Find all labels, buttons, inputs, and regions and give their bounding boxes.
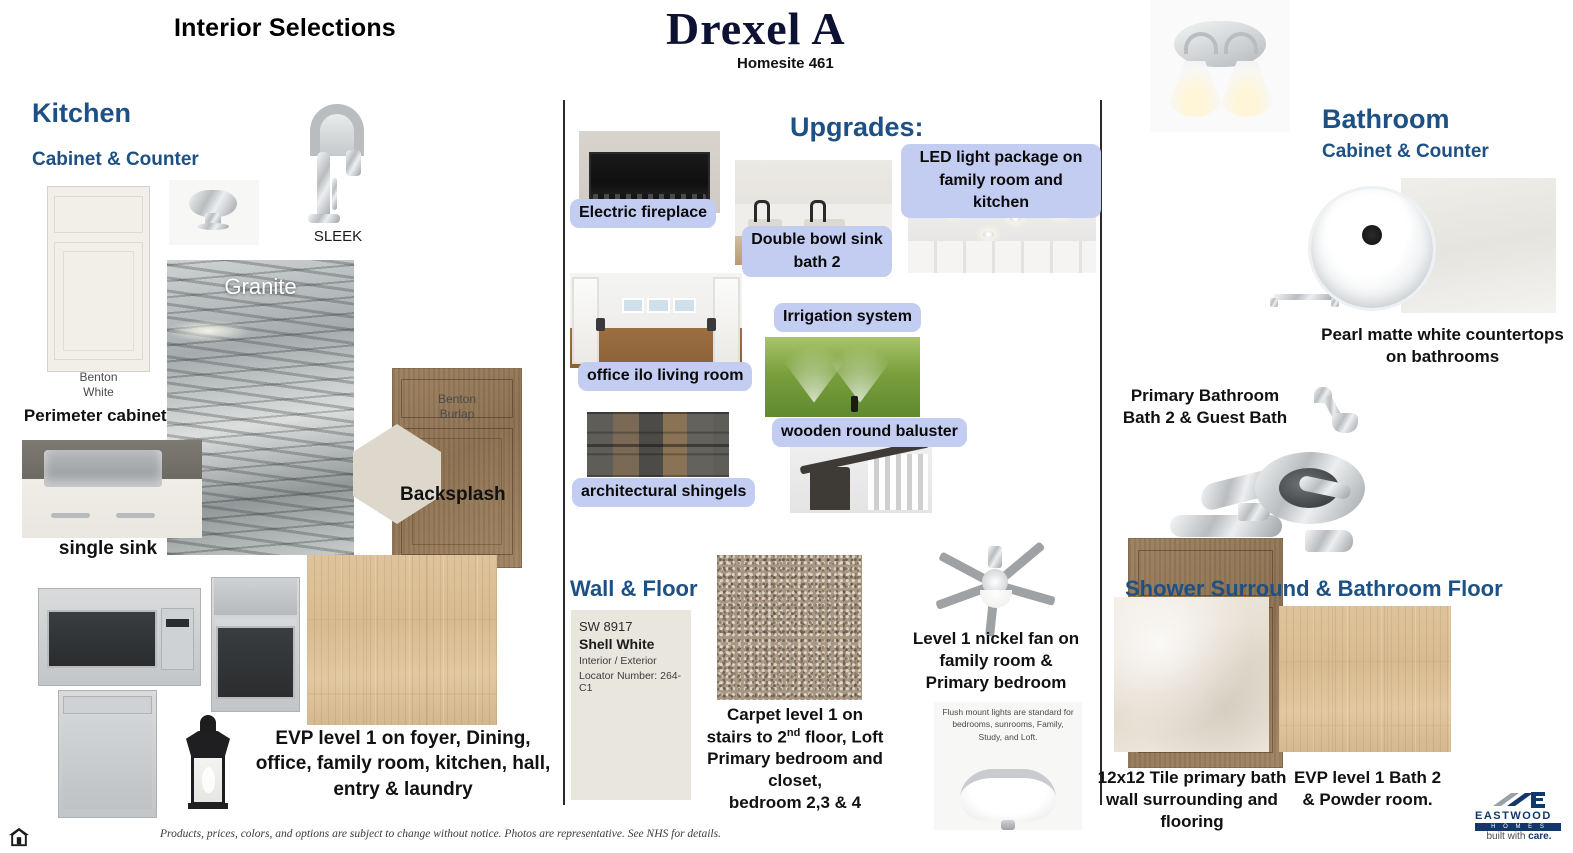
exterior-lantern-photo (178, 715, 240, 820)
eastwood-logo-bar: H O M E S (1475, 823, 1561, 831)
upgrade-label-double-sink: Double bowl sink bath 2 (742, 226, 892, 277)
kitchen-subheading: Cabinet & Counter (32, 149, 199, 171)
lantern-hook-icon (200, 715, 216, 733)
carpet-label-l1: Carpet level 1 on (727, 705, 863, 724)
upgrade-label-baluster-text: wooden round baluster (772, 418, 967, 447)
lantern-base-icon (188, 803, 228, 809)
benton-white-door-swatch (47, 186, 150, 372)
range-photo (211, 577, 300, 712)
upgrade-label-office: office ilo living room (578, 362, 752, 391)
single-sink-photo (22, 440, 202, 538)
eastwood-logo-word: EASTWOOD (1475, 810, 1552, 822)
eastwood-logo-mark-icon (1491, 790, 1547, 810)
upgrade-label-fireplace-text: Electric fireplace (570, 199, 716, 228)
dishwasher-photo (58, 690, 157, 818)
homesite-label: Homesite 461 (737, 55, 834, 72)
faucet-column-icon (317, 152, 330, 220)
tile-12x12-swatch (1114, 597, 1269, 752)
paint-code: SW 8917 (579, 619, 632, 634)
evp-flooring-swatch (307, 555, 497, 725)
upgrade-label-irrigation-text: Irrigation system (774, 303, 921, 332)
faucet-base-icon (308, 214, 340, 223)
knob-base-icon (197, 223, 229, 230)
page-title: Interior Selections (174, 14, 396, 43)
wooden-baluster-photo (790, 443, 932, 513)
equal-housing-icon (8, 826, 30, 848)
benton-white-name: Benton White (47, 370, 150, 400)
architectural-shingles-photo (587, 412, 729, 477)
vanity-light-photo (1150, 0, 1290, 132)
faucet-label: SLEEK (288, 228, 388, 245)
shower-head-icon (1332, 413, 1358, 433)
bath-evp-swatch (1279, 606, 1451, 752)
upgrade-label-double-sink-text: Double bowl sink bath 2 (742, 226, 892, 277)
faucet-handle-icon (332, 178, 337, 210)
tagline-b: care. (1528, 831, 1551, 842)
home-plan-title: Drexel A (666, 2, 846, 55)
upgrade-label-led-text: LED light package on family room and kit… (901, 144, 1101, 218)
led-room-cabinets (908, 241, 1096, 273)
office-room-photo (570, 273, 742, 368)
irrigation-system-photo (765, 337, 920, 417)
single-sink-label: single sink (18, 536, 198, 561)
shower-valve-trim-photo (1255, 452, 1370, 527)
paint-locator: Locator Number: 264-C1 (579, 670, 691, 694)
tub-spout-icon (1305, 530, 1353, 552)
flush-mount-finial-icon (1001, 820, 1015, 830)
cabinet-knob-photo (169, 180, 259, 245)
upgrade-label-fireplace: Electric fireplace (570, 199, 716, 228)
faucet-arc-icon (310, 104, 364, 156)
drawer-pull-bar-icon (1273, 294, 1337, 300)
kitchen-faucet-photo (288, 100, 388, 230)
carpet-label-sup: nd (787, 727, 800, 739)
upgrade-label-shingles-text: architectural shingels (572, 478, 755, 507)
flush-mount-photo: Flush mount lights are standard for bedr… (934, 702, 1082, 830)
paint-name: Shell White (579, 636, 654, 652)
kitchen-heading: Kitchen (32, 98, 131, 129)
backsplash-label: Backsplash (400, 482, 580, 507)
bathroom-subheading: Cabinet & Counter (1322, 141, 1489, 163)
fan-downrod-icon (988, 546, 1002, 568)
upgrade-label-baluster: wooden round baluster (772, 418, 967, 447)
evp-flooring-label: EVP level 1 on foyer, Dining, office, fa… (248, 726, 558, 802)
carpet-swatch (717, 555, 862, 700)
shower-head-photo (1310, 383, 1372, 435)
bathroom-cabinet-label: Primary Bathroom Bath 2 & Guest Bath (1110, 385, 1300, 429)
ceiling-fan-photo (920, 546, 1070, 618)
upgrades-heading: Upgrades: (790, 112, 924, 143)
paint-chip-swatch: SW 8917 Shell White Interior / Exterior … (571, 610, 691, 800)
upgrade-label-led: LED light package on family room and kit… (901, 144, 1101, 218)
carpet-label-l2a: stairs to 2 (707, 727, 787, 746)
carpet-label-l3: Primary bedroom and closet, (707, 749, 883, 790)
basin-drain-icon (1362, 225, 1382, 245)
selections-board: Interior Selections Drexel A Homesite 46… (0, 0, 1573, 853)
fan-label: Level 1 nickel fan on family room & Prim… (912, 628, 1080, 693)
eastwood-logo-tagline: built with care. (1471, 831, 1567, 842)
sprinkler-head-icon (851, 396, 858, 412)
upgrade-label-shingles: architectural shingels (572, 478, 755, 507)
lantern-top-icon (186, 731, 230, 757)
eastwood-homes-logo: EASTWOOD H O M E S built with care. (1469, 790, 1569, 842)
pearl-countertop-label: Pearl matte white countertops on bathroo… (1320, 324, 1565, 368)
wall-floor-heading: Wall & Floor (570, 576, 698, 602)
fan-light-kit-icon (980, 590, 1012, 608)
faucet-spray-icon (346, 150, 361, 176)
footer-disclaimer: Products, prices, colors, and options ar… (160, 828, 721, 840)
drawer-pull-post-left-icon (1270, 298, 1278, 307)
bathroom-heading: Bathroom (1322, 104, 1450, 135)
paint-usage: Interior / Exterior (579, 655, 657, 667)
undermount-basin-photo (1308, 186, 1436, 311)
divider-left (563, 100, 565, 805)
carpet-label: Carpet level 1 on stairs to 2nd floor, L… (690, 704, 900, 813)
upgrade-label-irrigation: Irrigation system (774, 303, 921, 332)
upgrade-label-office-text: office ilo living room (578, 362, 752, 391)
carpet-label-l4: bedroom 2,3 & 4 (729, 793, 861, 812)
microwave-photo (38, 588, 201, 686)
tile-12x12-label: 12x12 Tile primary bath wall surrounding… (1092, 767, 1292, 832)
carpet-label-l2b: floor, Loft (800, 727, 883, 746)
flush-mount-note: Flush mount lights are standard for bedr… (940, 706, 1076, 743)
tagline-a: built with (1486, 831, 1528, 842)
lantern-bulb-icon (202, 767, 215, 793)
benton-burlap-name: Benton Burlap (392, 392, 522, 422)
bath-evp-label: EVP level 1 Bath 2 & Powder room. (1290, 767, 1445, 811)
granite-label: Granite (167, 274, 354, 300)
